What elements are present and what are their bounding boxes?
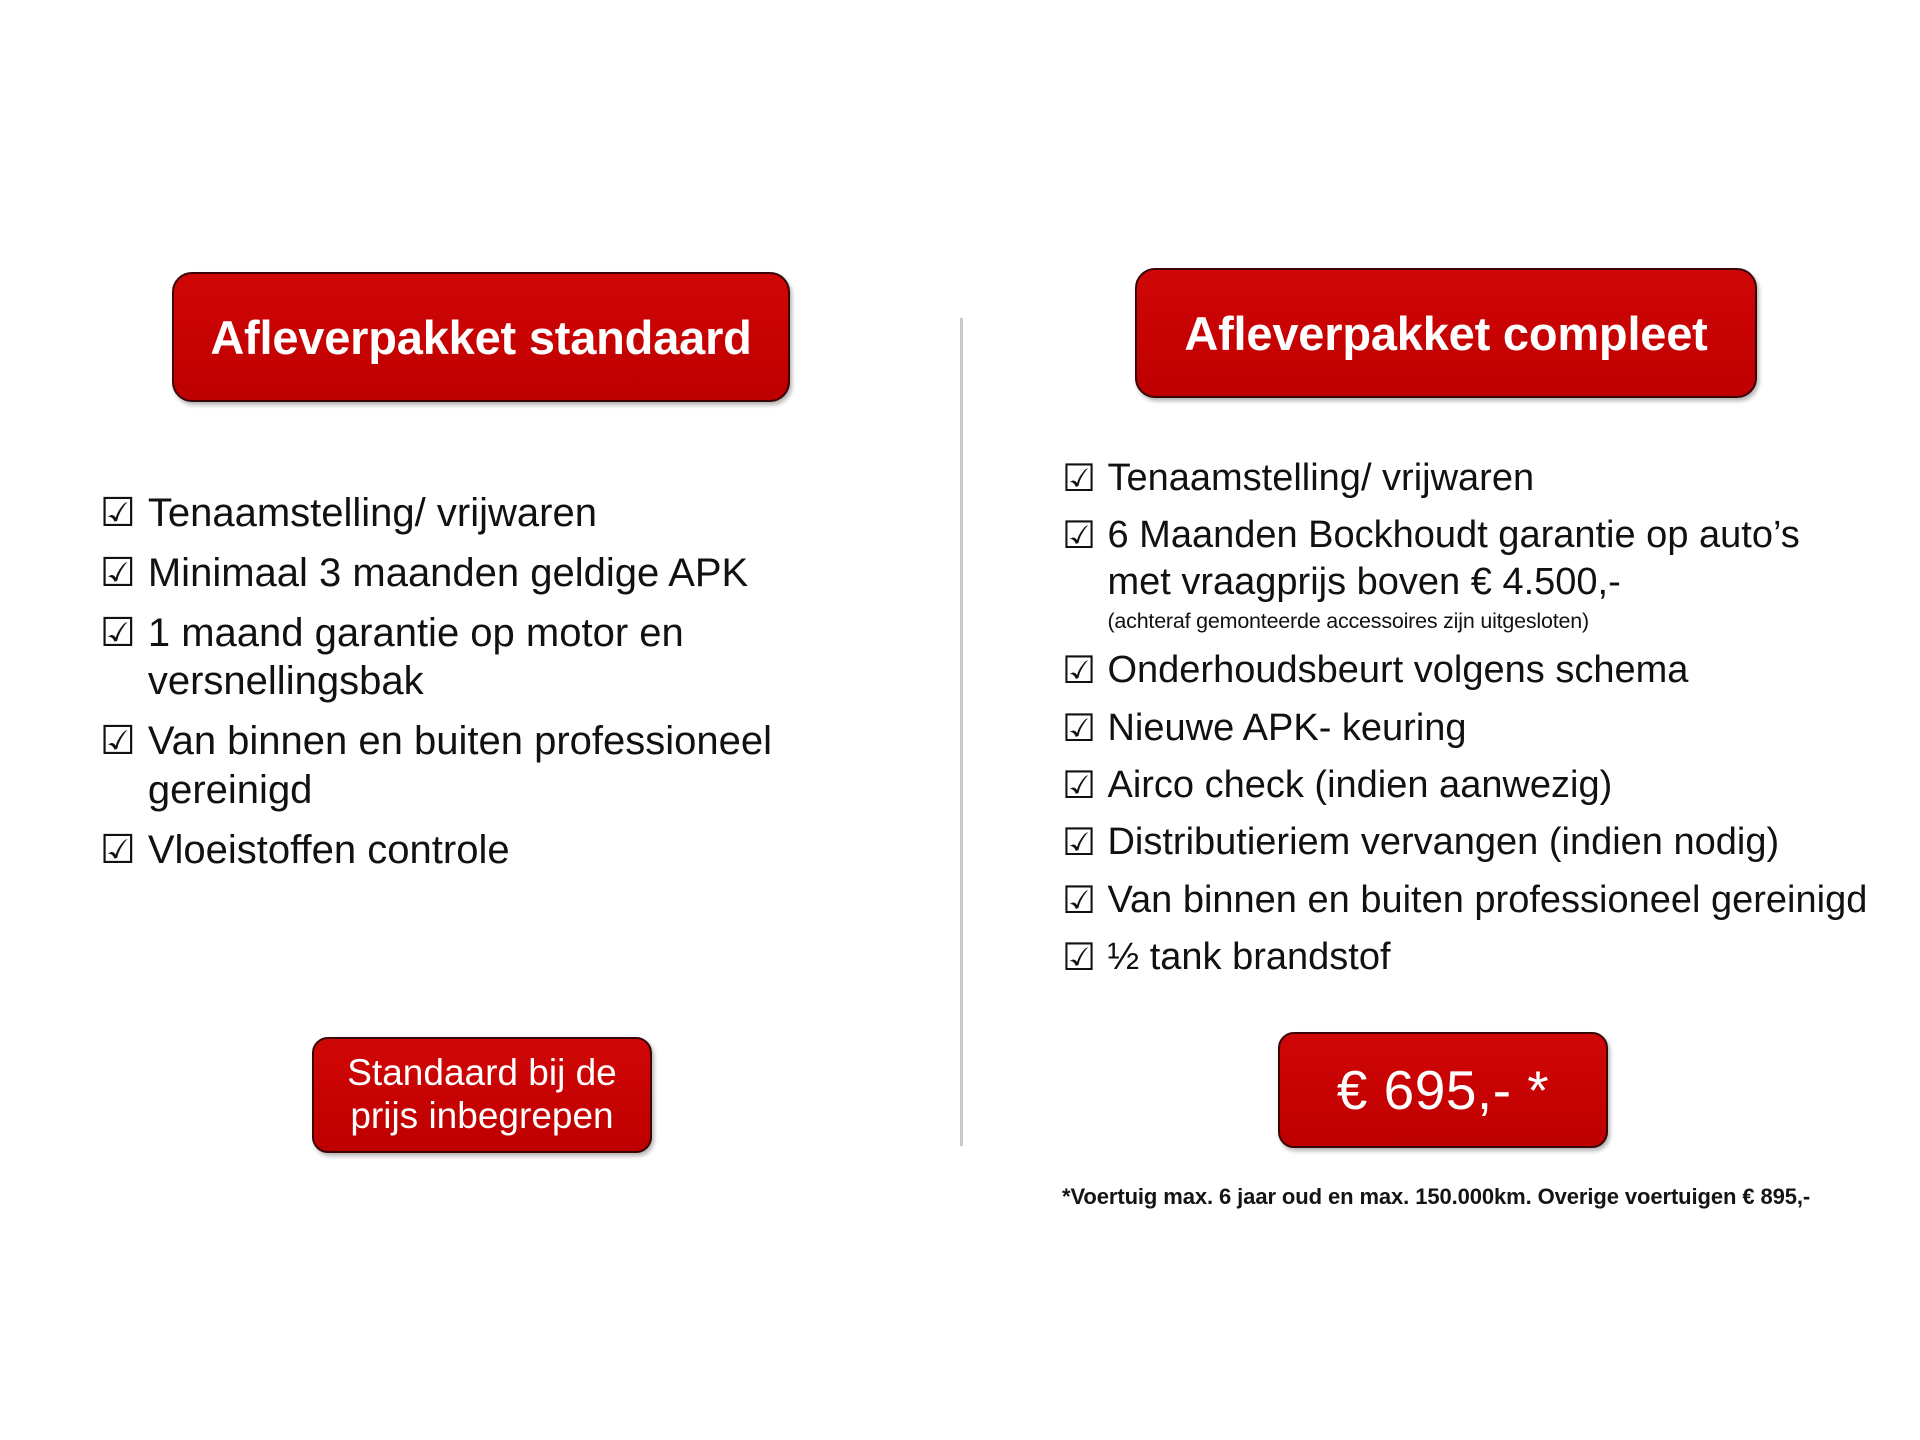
- list-item: ☑ 6 Maanden Bockhoudt garantie op auto’s…: [1062, 512, 1872, 636]
- list-item: ☑ Van binnen en buiten professioneel ger…: [100, 717, 840, 815]
- list-item: ☑ Onderhoudsbeurt volgens schema: [1062, 647, 1872, 693]
- checked-box-icon: ☑: [1062, 455, 1096, 501]
- package-header-standard: Afleverpakket standaard: [172, 272, 790, 402]
- package-header-complete: Afleverpakket compleet: [1135, 268, 1757, 398]
- list-item-main-text: 6 Maanden Bockhoudt garantie op auto’s m…: [1107, 514, 1799, 602]
- checked-box-icon: ☑: [100, 826, 136, 875]
- list-item: ☑ Vloeistoffen controle: [100, 826, 840, 875]
- list-item-label: Van binnen en buiten professioneel gerei…: [1107, 877, 1867, 923]
- list-item-label: 1 maand garantie op motor en versnelling…: [148, 609, 840, 707]
- list-item: ☑ Airco check (indien aanwezig): [1062, 762, 1872, 808]
- slide-canvas: Afleverpakket standaard ☑ Tenaamstelling…: [0, 0, 1920, 1440]
- checked-box-icon: ☑: [100, 609, 136, 658]
- checked-box-icon: ☑: [1062, 934, 1096, 980]
- list-item-label: Van binnen en buiten professioneel gerei…: [148, 717, 840, 815]
- checked-box-icon: ☑: [1062, 705, 1096, 751]
- checked-box-icon: ☑: [100, 549, 136, 598]
- list-item: ☑ Van binnen en buiten professioneel ger…: [1062, 877, 1872, 923]
- price-footnote: *Voertuig max. 6 jaar oud en max. 150.00…: [1062, 1184, 1882, 1210]
- list-item-sub-note: (achteraf gemonteerde accessoires zijn u…: [1107, 607, 1872, 636]
- list-item: ☑ 1 maand garantie op motor en versnelli…: [100, 609, 840, 707]
- feature-list-standard: ☑ Tenaamstelling/ vrijwaren ☑ Minimaal 3…: [100, 489, 840, 886]
- list-item-label: Tenaamstelling/ vrijwaren: [148, 489, 597, 538]
- list-item-label: Distributieriem vervangen (indien nodig): [1107, 819, 1779, 865]
- checked-box-icon: ☑: [1062, 647, 1096, 693]
- list-item: ☑ Minimaal 3 maanden geldige APK: [100, 549, 840, 598]
- list-item-label: Onderhoudsbeurt volgens schema: [1107, 647, 1688, 693]
- checked-box-icon: ☑: [100, 717, 136, 766]
- column-divider: [960, 318, 963, 1146]
- checked-box-icon: ☑: [100, 489, 136, 538]
- checked-box-icon: ☑: [1062, 512, 1096, 558]
- checked-box-icon: ☑: [1062, 877, 1096, 923]
- list-item: ☑ Distributieriem vervangen (indien nodi…: [1062, 819, 1872, 865]
- feature-list-complete: ☑ Tenaamstelling/ vrijwaren ☑ 6 Maanden …: [1062, 455, 1872, 991]
- list-item: ☑ Nieuwe APK- keuring: [1062, 705, 1872, 751]
- list-item: ☑ ½ tank brandstof: [1062, 934, 1872, 980]
- list-item: ☑ Tenaamstelling/ vrijwaren: [100, 489, 840, 538]
- list-item-label: 6 Maanden Bockhoudt garantie op auto’s m…: [1107, 512, 1872, 636]
- list-item: ☑ Tenaamstelling/ vrijwaren: [1062, 455, 1872, 501]
- list-item-label: Vloeistoffen controle: [148, 826, 510, 875]
- list-item-label: Airco check (indien aanwezig): [1107, 762, 1612, 808]
- list-item-label: Nieuwe APK- keuring: [1107, 705, 1466, 751]
- list-item-label: ½ tank brandstof: [1107, 934, 1390, 980]
- checked-box-icon: ☑: [1062, 762, 1096, 808]
- list-item-label: Minimaal 3 maanden geldige APK: [148, 549, 748, 598]
- price-badge-complete: € 695,- *: [1278, 1032, 1608, 1148]
- list-item-label: Tenaamstelling/ vrijwaren: [1107, 455, 1534, 501]
- checked-box-icon: ☑: [1062, 819, 1096, 865]
- price-badge-standard: Standaard bij de prijs inbegrepen: [312, 1037, 652, 1153]
